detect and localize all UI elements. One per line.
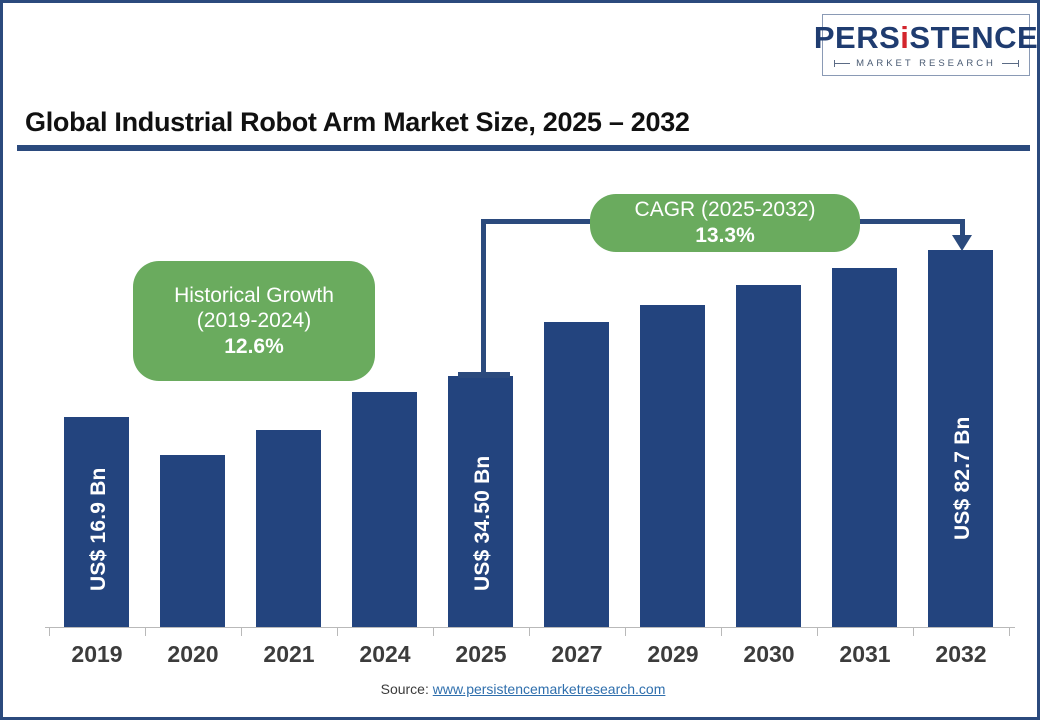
cagr-callout: CAGR (2025-2032) 13.3% [590,194,860,252]
chart-page: PERSiSTENCE MARKET RESEARCH Global Indus… [0,0,1040,720]
cagr-value: 13.3% [695,223,755,249]
x-axis-label-2031: 2031 [817,641,913,668]
historical-growth-line1: Historical Growth [174,283,334,309]
bar-value-label-2032: US$ 82.7 Bn [951,416,975,540]
bar-2020 [160,455,225,627]
axis-tick [49,627,50,636]
arrow-down-icon [952,235,972,251]
bar-2029 [640,305,705,627]
bar-chart-plot: US$ 16.9 Bn US$ 34.50 Bn US$ 82.7 Bn 201… [3,3,1040,720]
cagr-label: CAGR (2025-2032) [635,197,816,223]
axis-tick [145,627,146,636]
axis-tick [433,627,434,636]
axis-tick [337,627,338,636]
axis-tick [721,627,722,636]
axis-tick [529,627,530,636]
bar-2024 [352,392,417,627]
x-axis-label-2030: 2030 [721,641,817,668]
x-axis-line [45,627,1015,628]
x-axis-label-2019: 2019 [49,641,145,668]
axis-tick [913,627,914,636]
x-axis-label-2027: 2027 [529,641,625,668]
bar-value-label-2019: US$ 16.9 Bn [87,467,111,591]
bar-2027 [544,322,609,627]
source-prefix: Source: [381,681,433,697]
x-axis-label-2025: 2025 [433,641,529,668]
bar-2021 [256,430,321,627]
x-axis-label-2024: 2024 [337,641,433,668]
axis-tick [625,627,626,636]
x-axis-label-2020: 2020 [145,641,241,668]
x-axis-label-2032: 2032 [913,641,1009,668]
historical-growth-value: 12.6% [224,334,284,360]
cagr-connector-left-horizontal [481,219,593,224]
cagr-connector-left-vertical [481,219,486,377]
cagr-connector-left-foot [458,372,510,378]
historical-growth-callout: Historical Growth (2019-2024) 12.6% [133,261,375,381]
axis-tick [817,627,818,636]
source-link[interactable]: www.persistencemarketresearch.com [433,681,666,697]
historical-growth-line2: (2019-2024) [197,308,311,334]
x-axis-label-2029: 2029 [625,641,721,668]
bar-2030 [736,285,801,627]
axis-tick [241,627,242,636]
bar-2031 [832,268,897,627]
x-axis-label-2021: 2021 [241,641,337,668]
source-note: Source: www.persistencemarketresearch.co… [3,681,1040,697]
cagr-connector-right-horizontal [857,219,965,224]
axis-tick [1009,627,1010,636]
bar-value-label-2025: US$ 34.50 Bn [471,456,495,591]
